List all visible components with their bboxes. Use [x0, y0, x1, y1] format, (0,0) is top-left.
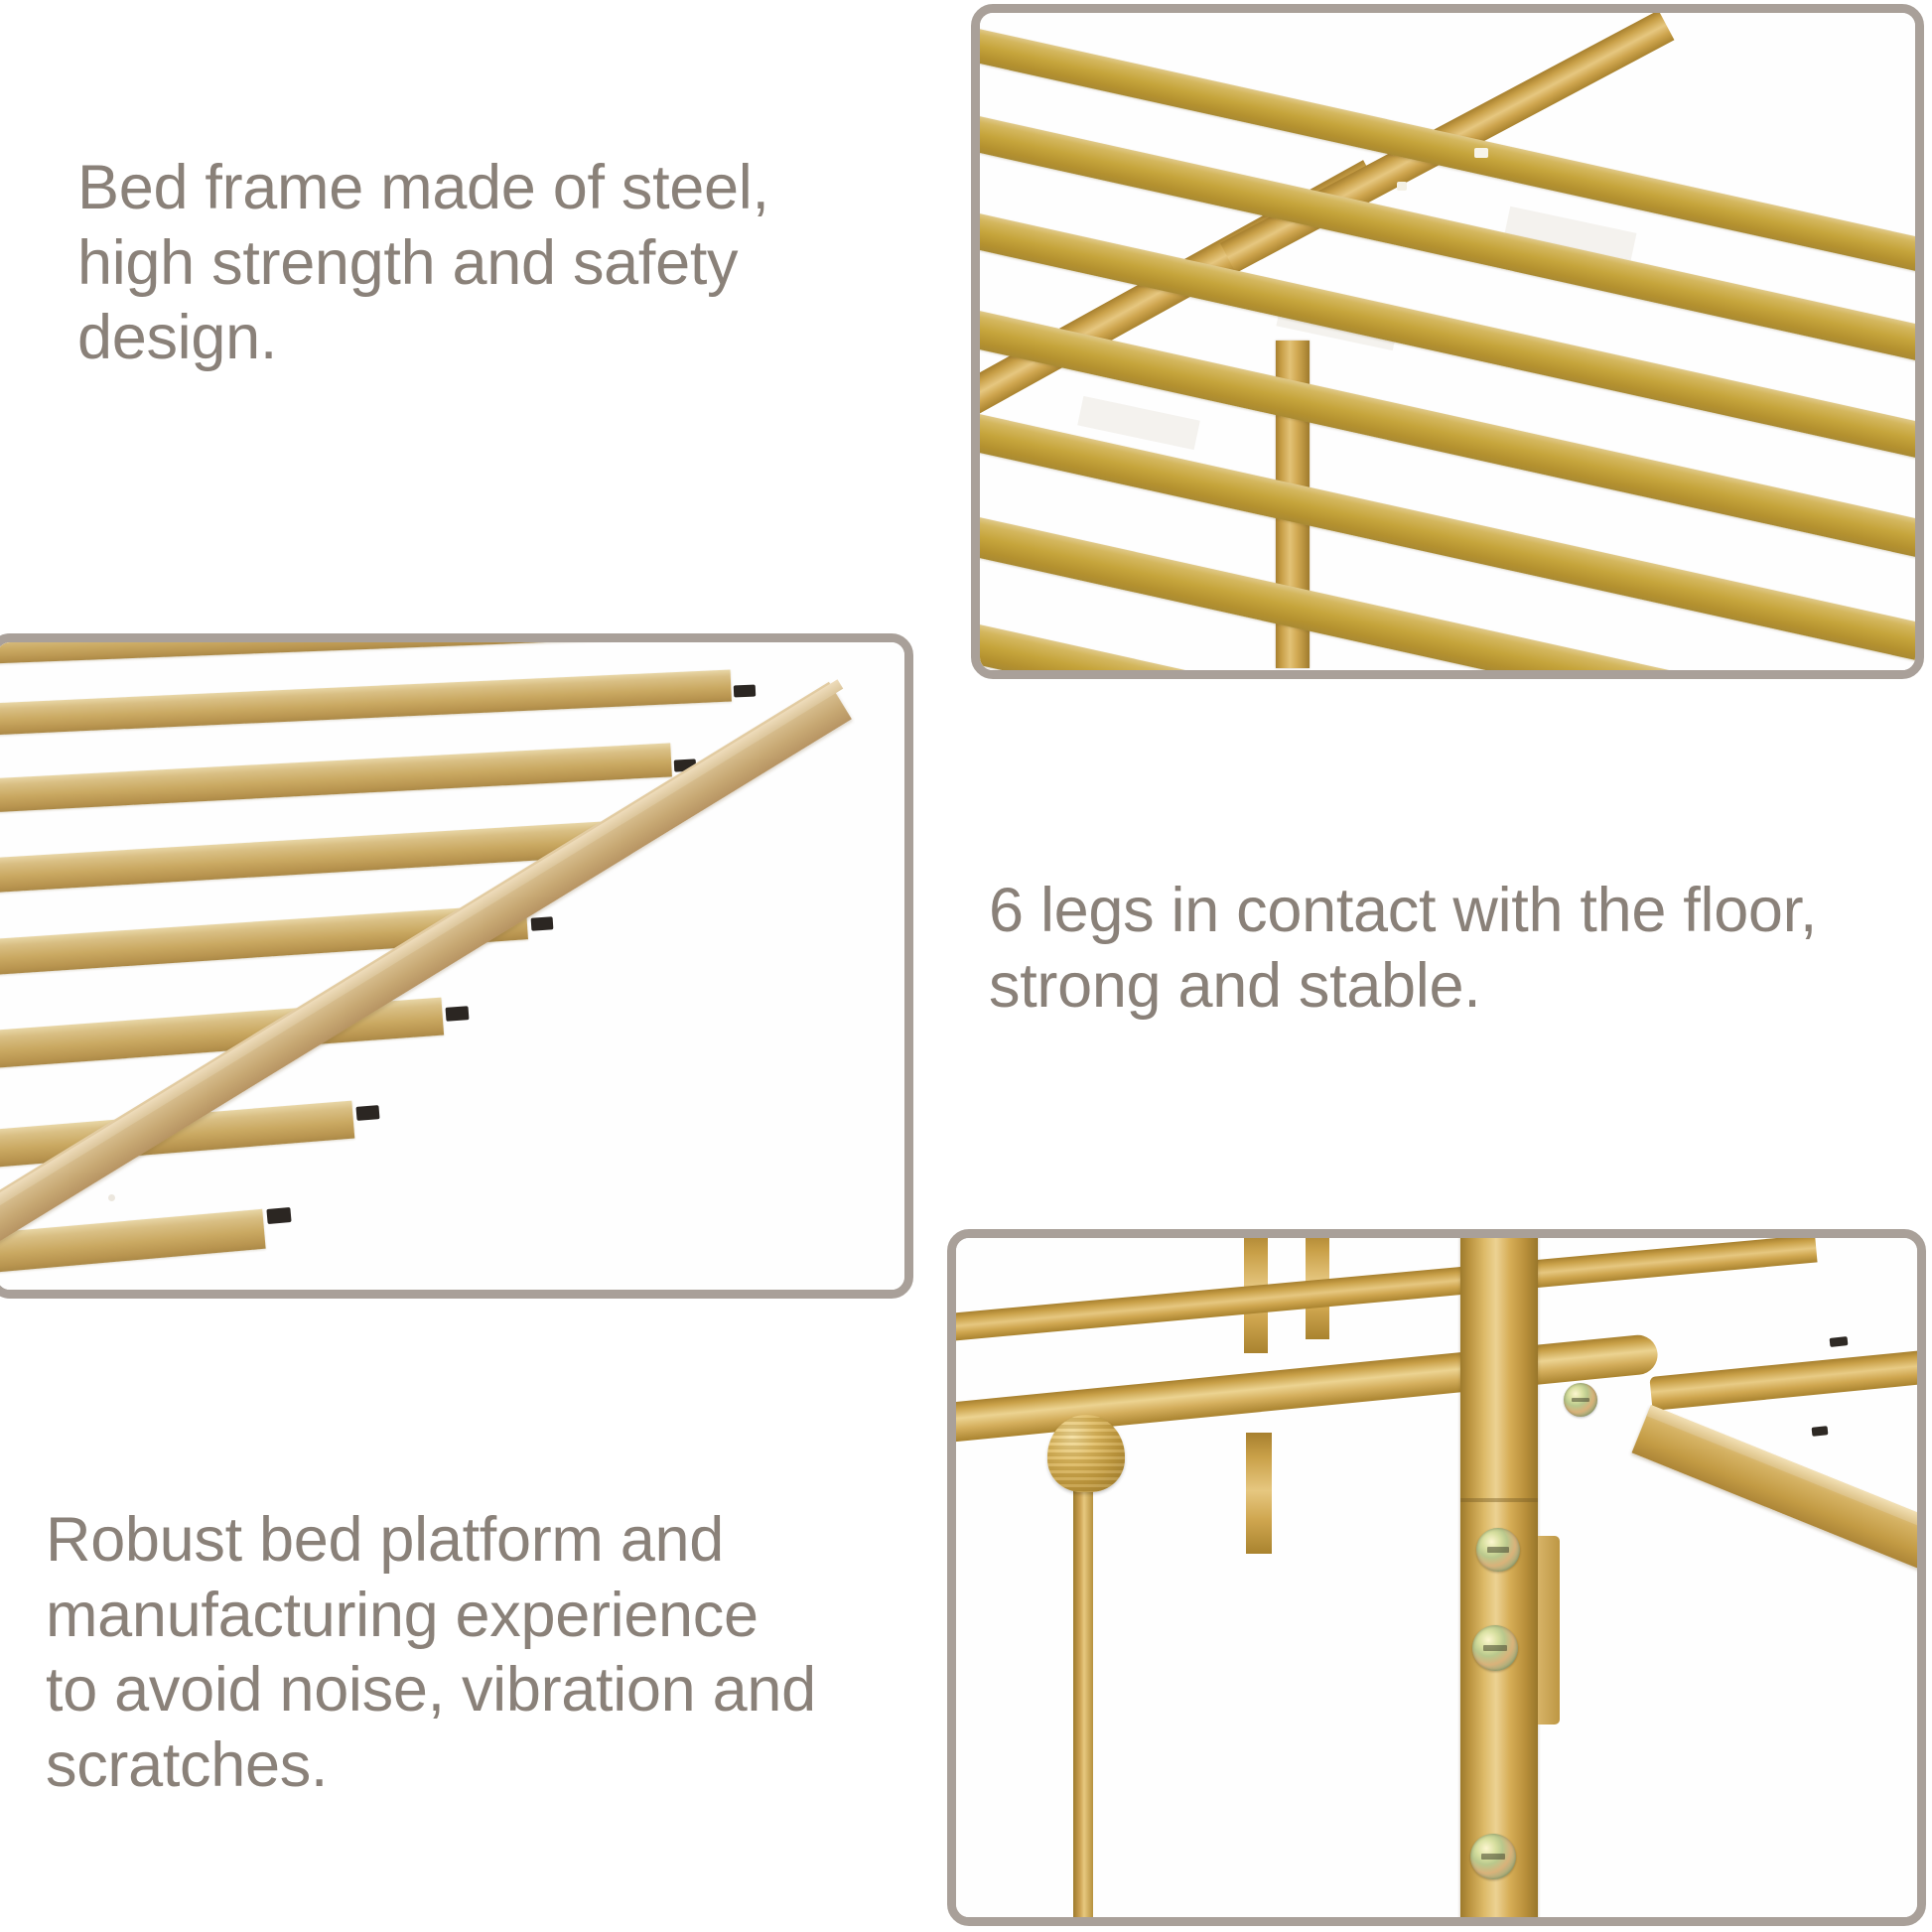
platform-side-rail [1632, 1405, 1917, 1646]
slat-end-cap [734, 685, 757, 698]
upper-horizontal-rail [956, 1238, 1818, 1343]
rail-screw [1564, 1383, 1597, 1417]
panel-slats-closeup [971, 4, 1924, 679]
bed-slat [0, 670, 732, 736]
panel-leg-detail [947, 1229, 1926, 1926]
rivet-highlight [1397, 182, 1407, 191]
leg-bracket-tab [1538, 1536, 1560, 1725]
panel-leg-detail-image [956, 1238, 1917, 1917]
slat-end-cap [266, 1207, 291, 1224]
background-speck [108, 1194, 115, 1201]
headboard-spindle [1246, 1433, 1272, 1554]
rear-horizontal-rail [1649, 1345, 1917, 1411]
slat-end-cap [355, 1105, 379, 1121]
decorative-spindle-rod [1073, 1462, 1093, 1917]
feature-text-steel: Bed frame made of steel, high strength a… [77, 151, 892, 376]
feature-text-legs: 6 legs in contact with the floor, strong… [989, 874, 1912, 1024]
panel-platform-leg-image [0, 642, 904, 1290]
slat-end-cap [446, 1006, 470, 1022]
rail-end-cap [1830, 1336, 1849, 1347]
bed-slat [0, 1209, 266, 1274]
leg-joint-seam [1460, 1498, 1538, 1502]
panel-platform-leg [0, 633, 913, 1299]
bed-slat [0, 642, 791, 664]
feature-text-platform: Robust bed platform and manufacturing ex… [46, 1503, 939, 1803]
panel-slats-closeup-image [980, 13, 1915, 670]
main-support-leg [1460, 1238, 1538, 1917]
leg-screw [1470, 1834, 1516, 1879]
leg-screw [1472, 1625, 1518, 1671]
rivet-highlight [1474, 148, 1488, 158]
bed-slat [0, 743, 672, 813]
slat-end-cap [531, 916, 554, 930]
infographic-canvas: Bed frame made of steel, high strength a… [0, 0, 1932, 1932]
rail-end-cap [1812, 1426, 1829, 1437]
leg-screw [1476, 1528, 1520, 1572]
finial-ball [1047, 1415, 1125, 1492]
